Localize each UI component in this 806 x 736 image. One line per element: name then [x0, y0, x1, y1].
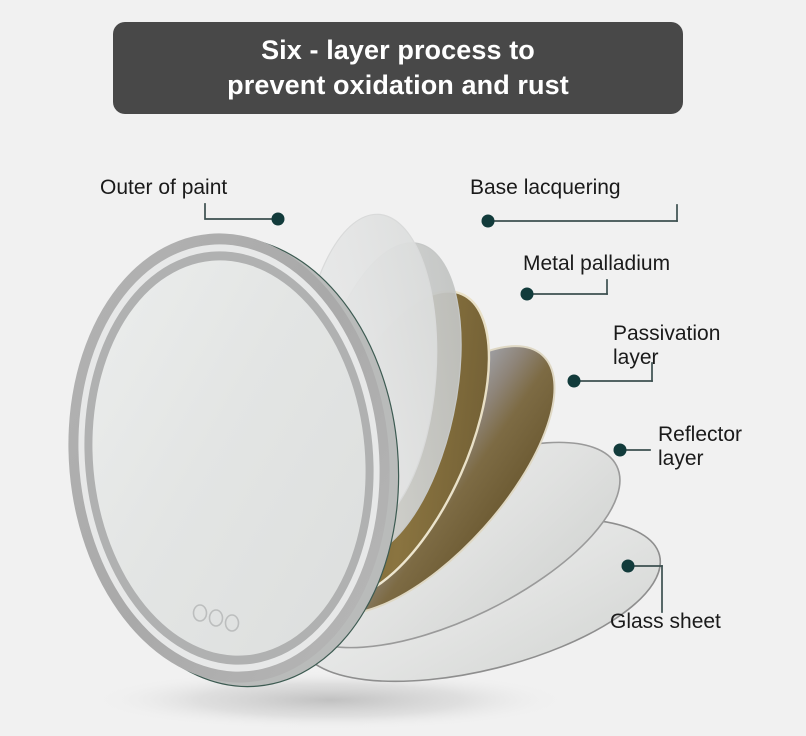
callout-label-glass-sheet: Glass sheet [610, 610, 721, 634]
callout-label-reflector-layer: Reflector layer [658, 423, 742, 472]
callout-dot-reflector[interactable] [614, 444, 627, 457]
callout-label-base-lacquering: Base lacquering [470, 176, 621, 200]
callout-dot-passivation[interactable] [568, 375, 581, 388]
callout-label-outer-of-paint: Outer of paint [100, 176, 227, 200]
callout-dot-metal-palladium[interactable] [521, 288, 534, 301]
callout-label-metal-palladium: Metal palladium [523, 252, 670, 276]
ground-shadow [90, 670, 570, 730]
callout-dot-outer-of-paint[interactable] [272, 213, 285, 226]
leader-line-outer-of-paint [205, 204, 274, 219]
callout-dot-base-lacquering[interactable] [482, 215, 495, 228]
callout-label-passivation-layer: Passivation layer [613, 322, 720, 371]
callout-dot-glass-sheet[interactable] [622, 560, 635, 573]
infographic-canvas: Six - layer process to prevent oxidation… [0, 0, 806, 736]
